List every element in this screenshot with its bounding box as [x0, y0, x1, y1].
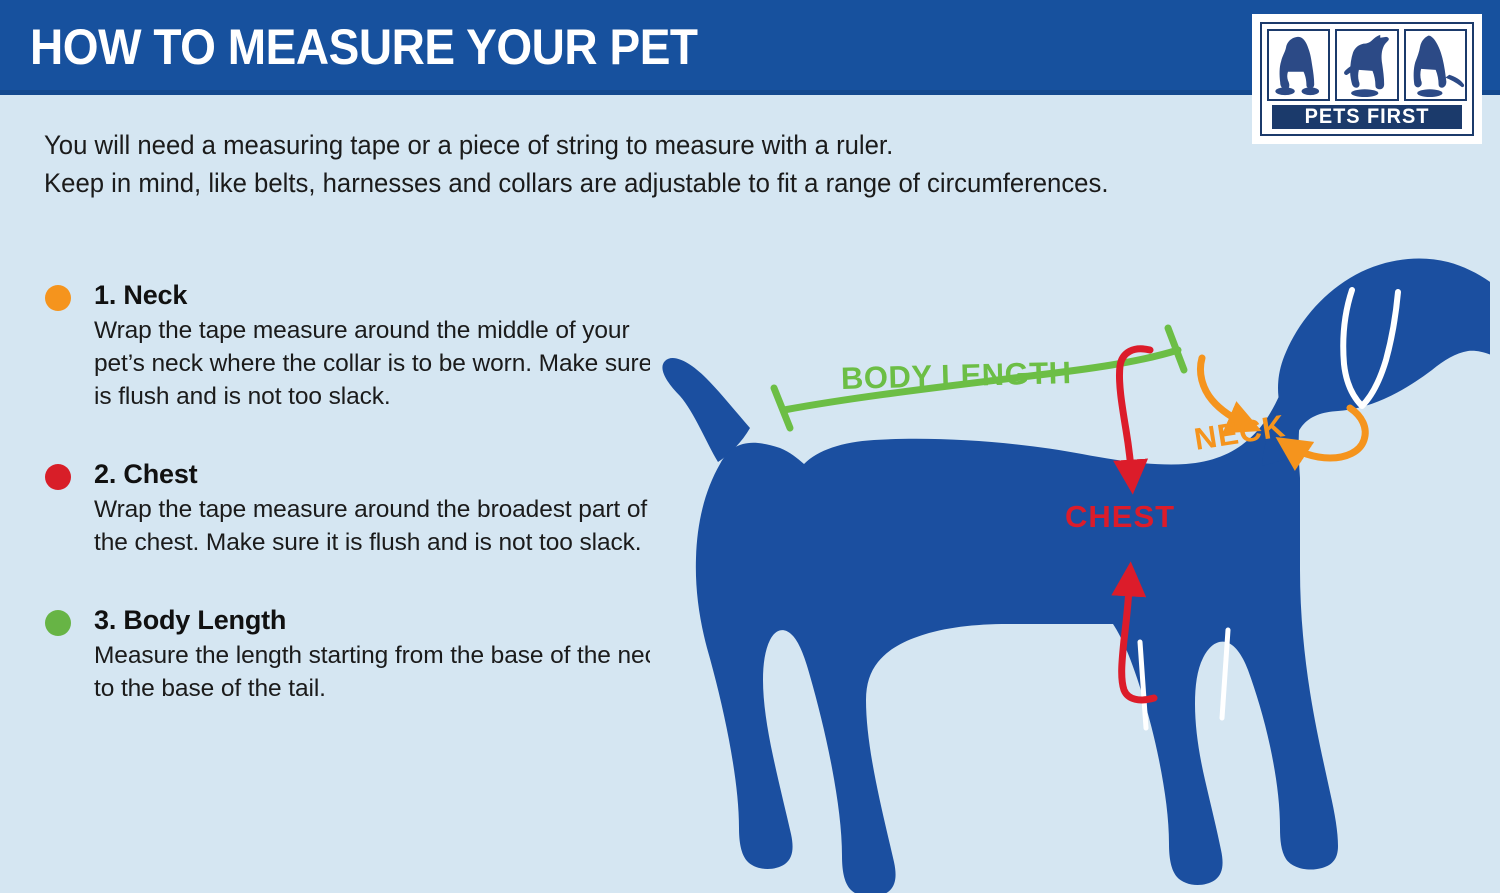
- measurement-steps-list: 1. Neck Wrap the tape measure around the…: [42, 278, 682, 749]
- brand-logo: PETS FIRST: [1252, 14, 1482, 144]
- step-item-neck: 1. Neck Wrap the tape measure around the…: [42, 278, 682, 413]
- logo-wordmark: PETS FIRST: [1272, 105, 1462, 129]
- bullet-neck-icon: [45, 285, 71, 311]
- step-item-chest: 2. Chest Wrap the tape measure around th…: [42, 457, 682, 559]
- dog-standing-silhouette-icon: [1404, 29, 1467, 101]
- dog-howling-silhouette-icon: [1335, 29, 1398, 101]
- bullet-body-length-icon: [45, 610, 71, 636]
- logo-frame: PETS FIRST: [1260, 22, 1474, 136]
- step-body-neck: Wrap the tape measure around the middle …: [94, 314, 682, 413]
- step-title-neck: 1. Neck: [94, 278, 682, 312]
- page-title: HOW TO MEASURE YOUR PET: [30, 21, 698, 73]
- dog-sitting-silhouette-icon: [1267, 29, 1330, 101]
- infographic-page: HOW TO MEASURE YOUR PET: [0, 0, 1500, 893]
- step-item-body-length: 3. Body Length Measure the length starti…: [42, 603, 682, 705]
- dog-measurement-diagram: [650, 230, 1490, 893]
- label-body-length: BODY LENGTH: [841, 355, 1072, 397]
- step-body-chest: Wrap the tape measure around the broades…: [94, 493, 682, 559]
- intro-text: You will need a measuring tape or a piec…: [44, 126, 1295, 202]
- logo-dog-panels: [1267, 29, 1467, 101]
- intro-line-1: You will need a measuring tape or a piec…: [44, 126, 1295, 164]
- label-chest: CHEST: [1065, 499, 1175, 535]
- intro-line-2: Keep in mind, like belts, harnesses and …: [44, 164, 1295, 202]
- step-body-body-length: Measure the length starting from the bas…: [94, 639, 682, 705]
- bullet-chest-icon: [45, 464, 71, 490]
- step-title-body-length: 3. Body Length: [94, 603, 682, 637]
- step-title-chest: 2. Chest: [94, 457, 682, 491]
